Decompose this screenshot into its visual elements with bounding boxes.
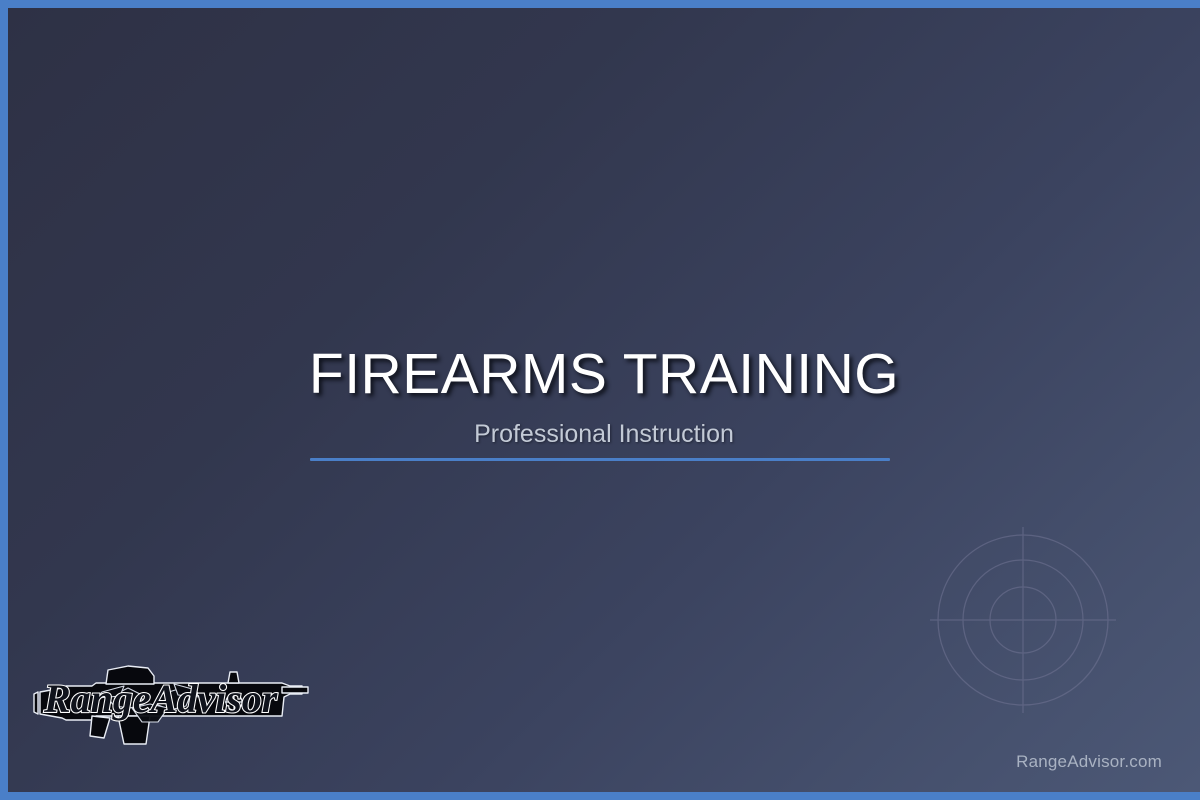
page-title: FIREARMS TRAINING	[8, 343, 1200, 405]
brand-logo-wordmark: RangeAdvisor	[43, 676, 278, 721]
brand-logo: RangeAdvisor	[32, 664, 310, 748]
slide-canvas: FIREARMS TRAINING Professional Instructi…	[8, 8, 1200, 792]
crosshair-target-icon	[928, 525, 1118, 715]
page-subtitle: Professional Instruction	[8, 418, 1200, 450]
footer-url: RangeAdvisor.com	[1016, 752, 1162, 772]
presentation-slide: FIREARMS TRAINING Professional Instructi…	[0, 0, 1200, 800]
accent-divider	[310, 458, 890, 461]
